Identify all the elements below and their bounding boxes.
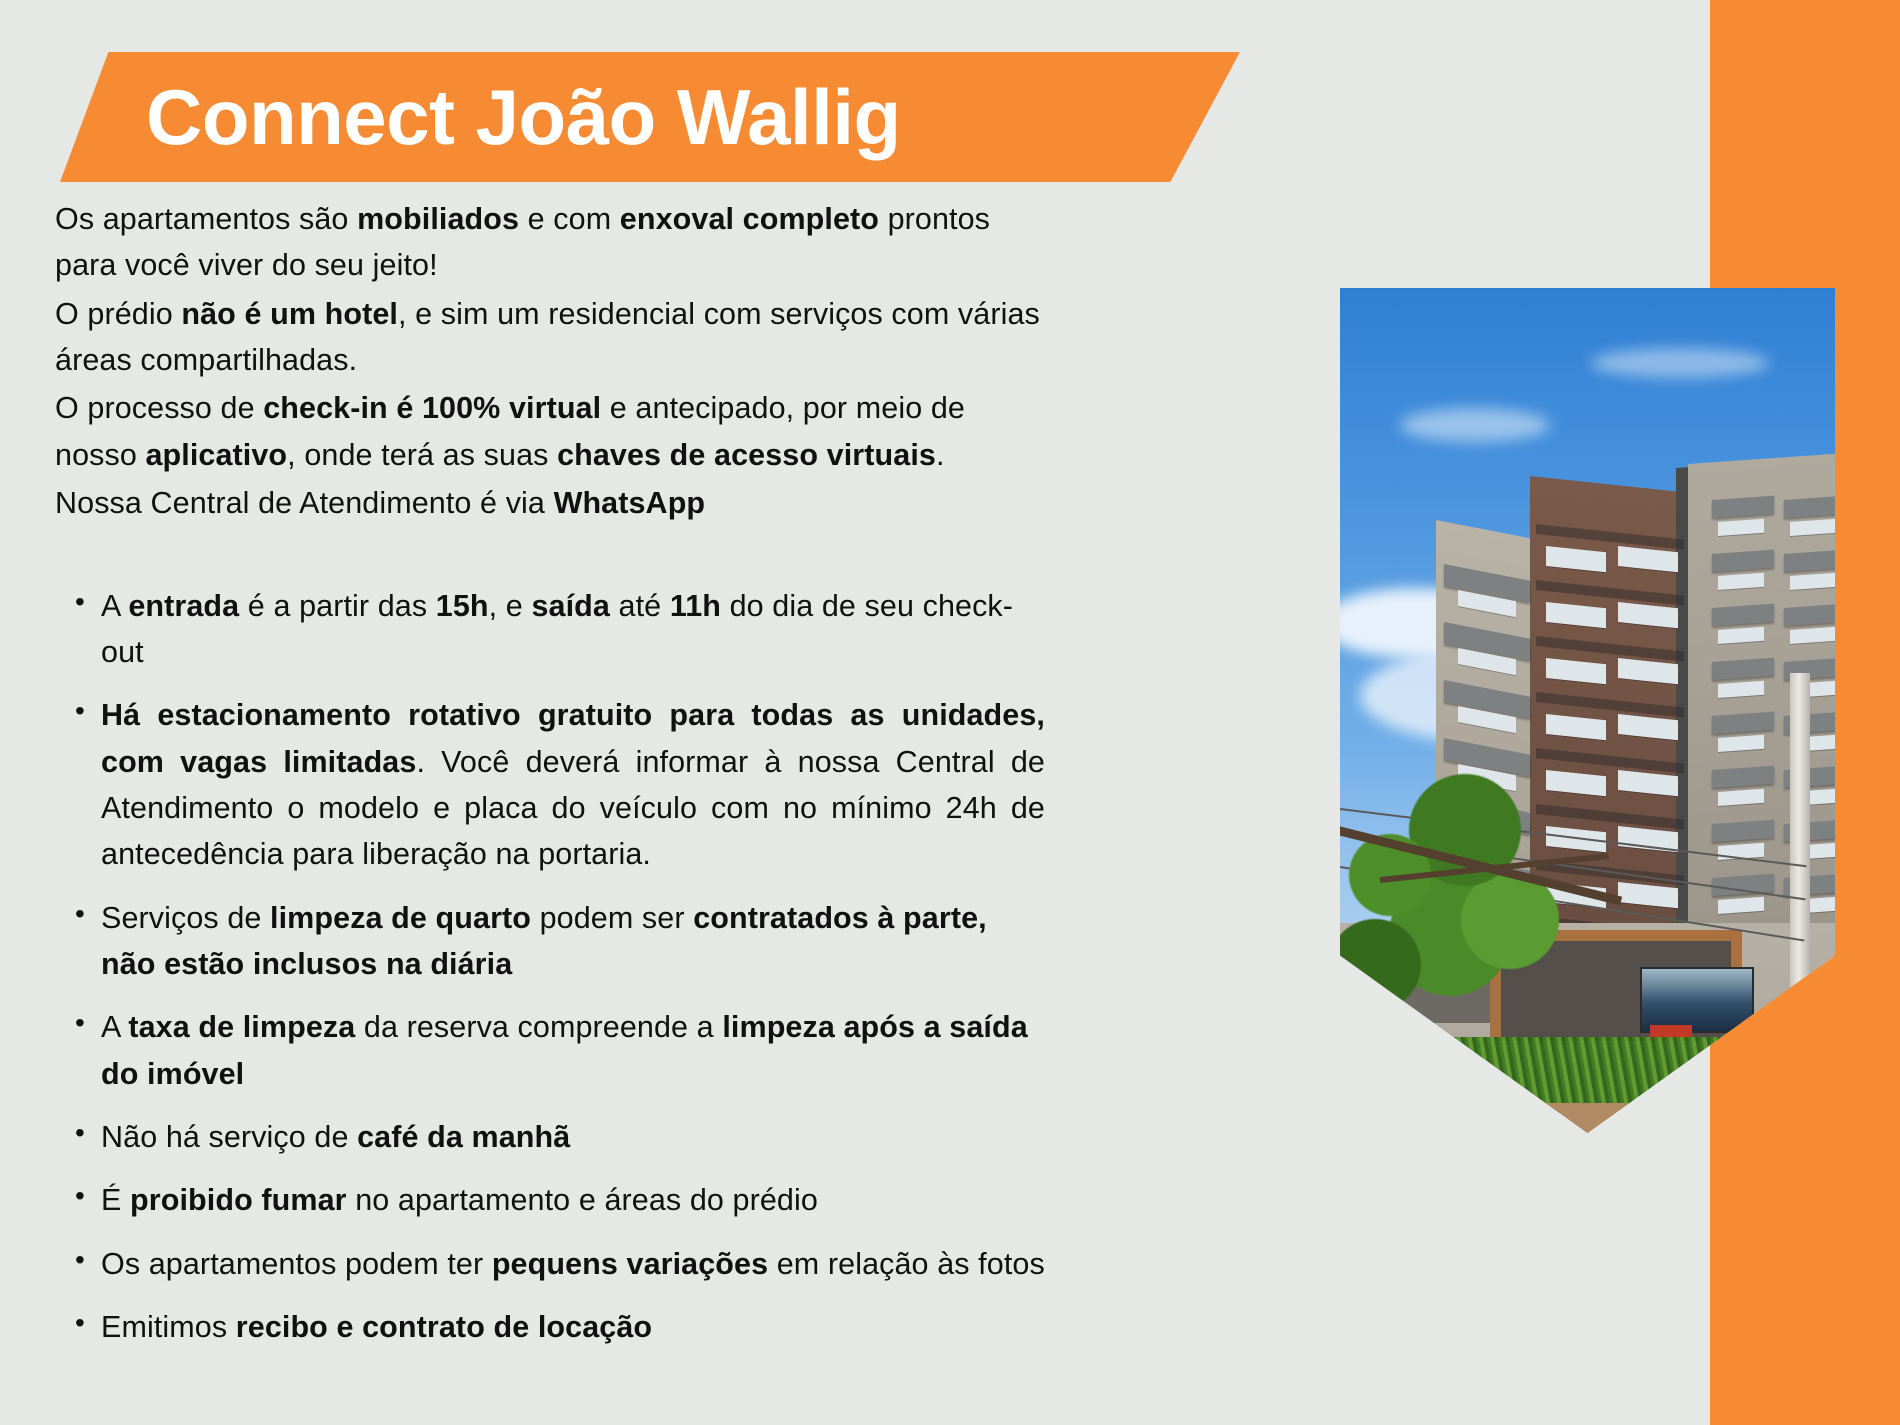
photo-artwork — [1340, 288, 1835, 1133]
body-text: em relação às fotos — [768, 1247, 1045, 1281]
emphasis-text: não é um hotel — [181, 297, 398, 331]
emphasis-text: saída — [531, 589, 610, 623]
body-text: É — [101, 1183, 130, 1217]
rules-list-item: Há estacionamento rotativo gratuito para… — [55, 692, 1045, 877]
body-text: , e — [489, 589, 532, 623]
emphasis-text: mobiliados — [357, 202, 519, 236]
emphasis-text: taxa de limpeza — [128, 1010, 355, 1044]
body-text: e com — [519, 202, 620, 236]
body-text: até — [610, 589, 670, 623]
rules-list: A entrada é a partir das 15h, e saída at… — [55, 583, 1045, 1351]
body-text: é a partir das — [239, 589, 436, 623]
building-photo — [1340, 288, 1835, 1133]
emphasis-text: chaves de acesso virtuais — [557, 438, 936, 472]
body-text: A — [101, 589, 128, 623]
rules-list-item: Serviços de limpeza de quarto podem ser … — [55, 895, 1045, 988]
body-text: Os apartamentos podem ter — [101, 1247, 492, 1281]
body-text: O processo de — [55, 391, 263, 425]
emphasis-text: café da manhã — [357, 1120, 570, 1154]
intro-paragraph: Nossa Central de Atendimento é via Whats… — [55, 480, 1045, 526]
window — [1618, 1106, 1678, 1132]
intro-paragraph: O processo de check-in é 100% virtual e … — [55, 385, 1045, 478]
emphasis-text: check-in é 100% virtual — [263, 391, 601, 425]
body-text: , onde terá as suas — [287, 438, 557, 472]
body-text: Os apartamentos são — [55, 202, 357, 236]
rules-list-item: Os apartamentos podem ter pequens variaç… — [55, 1241, 1045, 1287]
emphasis-text: entrada — [128, 589, 239, 623]
foreground-tree — [1340, 755, 1600, 1055]
emphasis-text: aplicativo — [145, 438, 287, 472]
balcony — [1444, 1086, 1530, 1125]
body-text: no apartamento e áreas do prédio — [347, 1183, 818, 1217]
body-text: Serviços de — [101, 901, 270, 935]
emphasis-text: pequens variações — [492, 1247, 768, 1281]
body-text: Nossa Central de Atendimento é via — [55, 486, 554, 520]
emphasis-text: 11h — [670, 589, 721, 623]
emphasis-text: 15h — [436, 589, 489, 623]
body-text: Emitimos — [101, 1310, 236, 1344]
body-text: . — [936, 438, 945, 472]
intro-paragraphs: Os apartamentos são mobiliados e com enx… — [55, 196, 1045, 527]
rules-list-item: A taxa de limpeza da reserva compreende … — [55, 1004, 1045, 1097]
emphasis-text: limpeza de quarto — [270, 901, 531, 935]
body-text: podem ser — [531, 901, 693, 935]
title-banner: Connect João Wallig — [60, 52, 1240, 182]
body-text: A — [101, 1010, 128, 1044]
intro-paragraph: Os apartamentos são mobiliados e com enx… — [55, 196, 1045, 289]
content-column: Os apartamentos são mobiliados e com enx… — [55, 196, 1045, 1368]
emphasis-text: WhatsApp — [554, 486, 706, 520]
rules-list-item: A entrada é a partir das 15h, e saída at… — [55, 583, 1045, 676]
emphasis-text: recibo e contrato de locação — [236, 1310, 652, 1344]
rules-list-item: Não há serviço de café da manhã — [55, 1114, 1045, 1160]
emphasis-text: enxoval completo — [620, 202, 879, 236]
intro-paragraph: O prédio não é um hotel, e sim um reside… — [55, 291, 1045, 384]
rules-list-item: É proibido fumar no apartamento e áreas … — [55, 1177, 1045, 1223]
window — [1458, 1112, 1516, 1133]
body-text: da reserva compreende a — [355, 1010, 722, 1044]
rules-list-item: Emitimos recibo e contrato de locação — [55, 1304, 1045, 1350]
page-title: Connect João Wallig — [146, 78, 901, 156]
emphasis-text: proibido fumar — [130, 1183, 347, 1217]
body-text: Não há serviço de — [101, 1120, 357, 1154]
body-text: O prédio — [55, 297, 181, 331]
